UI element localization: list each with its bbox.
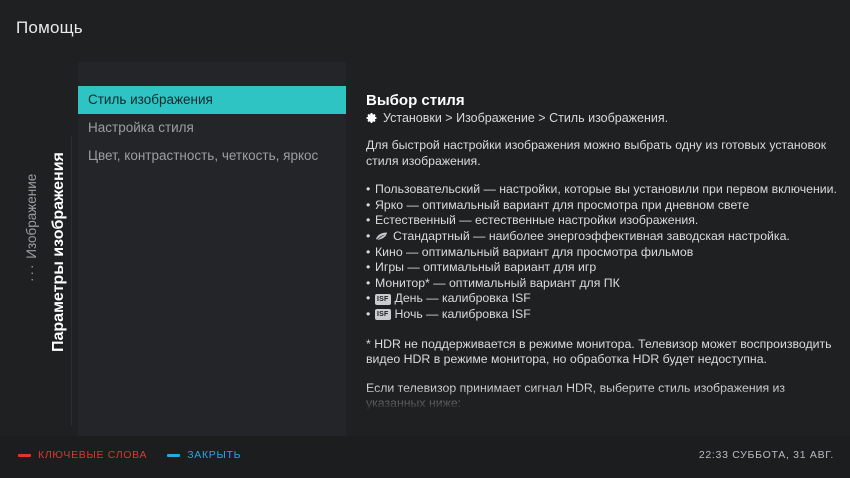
list-item-color-contrast[interactable]: Цвет, контрастность, четкость, яркос	[78, 142, 346, 170]
bullet-icon: •	[366, 307, 375, 323]
article-title: Выбор стиля	[366, 92, 836, 109]
close-button-label: ЗАКРЫТЬ	[187, 449, 241, 461]
red-key-icon	[18, 454, 31, 457]
style-option-text: Естественный — естественные настройки из…	[375, 213, 698, 229]
clock: 22:33 СУББОТА, 31 АВГ.	[699, 449, 834, 461]
bullet-icon: •	[366, 260, 375, 276]
list-item: • Игры — оптимальный вариант для игр	[366, 260, 836, 276]
bullet-icon: •	[366, 245, 375, 261]
header-bar: Помощь	[0, 0, 850, 62]
style-options-list: • Пользовательский — настройки, которые …	[366, 182, 836, 322]
vertical-breadcrumb-rail: ··· Изображение Параметры изображения	[0, 62, 76, 436]
close-button[interactable]: ЗАКРЫТЬ	[167, 449, 241, 461]
rail-parent-label[interactable]: ··· Изображение	[24, 174, 39, 282]
breadcrumb: Установки > Изображение > Стиль изображе…	[366, 111, 836, 125]
footer-bar: КЛЮЧЕВЫЕ СЛОВА ЗАКРЫТЬ 22:33 СУББОТА, 31…	[0, 436, 850, 478]
bullet-icon: •	[366, 198, 375, 214]
keyword-button-label: КЛЮЧЕВЫЕ СЛОВА	[38, 449, 147, 461]
blue-key-icon	[167, 454, 180, 457]
ellipsis-icon: ···	[24, 263, 39, 283]
bullet-icon: •	[366, 213, 375, 229]
tv-help-screen: Помощь ··· Изображение Параметры изображ…	[0, 0, 850, 478]
style-option-text: Монитор* — оптимальный вариант для ПК	[375, 276, 620, 292]
color-key-hints: КЛЮЧЕВЫЕ СЛОВА ЗАКРЫТЬ	[18, 449, 241, 461]
breadcrumb-text: Установки > Изображение > Стиль изображе…	[383, 111, 668, 125]
bullet-icon: •	[366, 276, 375, 292]
list-item-label: Цвет, контрастность, четкость, яркос	[88, 148, 318, 163]
isf-badge: ISF	[375, 294, 391, 305]
list-item: • ISF Ночь — калибровка ISF	[366, 307, 836, 323]
style-option-text: Кино — оптимальный вариант для просмотра…	[375, 245, 693, 261]
rail-current-label: Параметры изображения	[50, 152, 68, 352]
list-item: • Кино — оптимальный вариант для просмот…	[366, 245, 836, 261]
hdr-signal-note: Если телевизор принимает сигнал HDR, выб…	[366, 381, 836, 410]
rail-divider	[71, 136, 72, 426]
rail-parent-text: Изображение	[24, 174, 39, 259]
article-intro: Для быстрой настройки изображения можно …	[366, 138, 836, 169]
list-item-label: Стиль изображения	[88, 92, 213, 107]
list-item: • ISF День — калибровка ISF	[366, 291, 836, 307]
gear-icon	[366, 112, 378, 124]
bullet-icon: •	[366, 229, 375, 245]
style-option-text: День — калибровка ISF	[395, 291, 531, 307]
keyword-button[interactable]: КЛЮЧЕВЫЕ СЛОВА	[18, 449, 147, 461]
list-item: • Естественный — естественные настройки …	[366, 213, 836, 229]
hdr-monitor-note: * HDR не поддерживается в режиме монитор…	[366, 337, 836, 368]
help-article: Выбор стиля Установки > Изображение > Ст…	[366, 92, 836, 410]
list-item-label: Настройка стиля	[88, 120, 194, 135]
style-option-text: Стандартный — наиболее энергоэффективная…	[393, 229, 790, 245]
list-item: • Монитор* — оптимальный вариант для ПК	[366, 276, 836, 292]
topic-list-panel: Стиль изображения Настройка стиля Цвет, …	[78, 62, 346, 436]
bullet-icon: •	[366, 291, 375, 307]
list-item-style-adjust[interactable]: Настройка стиля	[78, 114, 346, 142]
bullet-icon: •	[366, 182, 375, 198]
style-option-text: Пользовательский — настройки, которые вы…	[375, 182, 836, 198]
list-item: • Пользовательский — настройки, которые …	[366, 182, 836, 198]
style-option-text: Ярко — оптимальный вариант для просмотра…	[375, 198, 749, 214]
leaf-icon	[375, 231, 388, 242]
list-item: • Ярко — оптимальный вариант для просмот…	[366, 198, 836, 214]
isf-badge: ISF	[375, 309, 391, 320]
list-item: • Стандартный — наиболее энергоэффективн…	[366, 229, 836, 245]
style-option-text: Ночь — калибровка ISF	[395, 307, 531, 323]
style-option-text: Игры — оптимальный вариант для игр	[375, 260, 596, 276]
list-item-picture-style[interactable]: Стиль изображения	[78, 86, 346, 114]
page-title: Помощь	[16, 18, 83, 38]
list-top-spacer	[78, 62, 346, 86]
